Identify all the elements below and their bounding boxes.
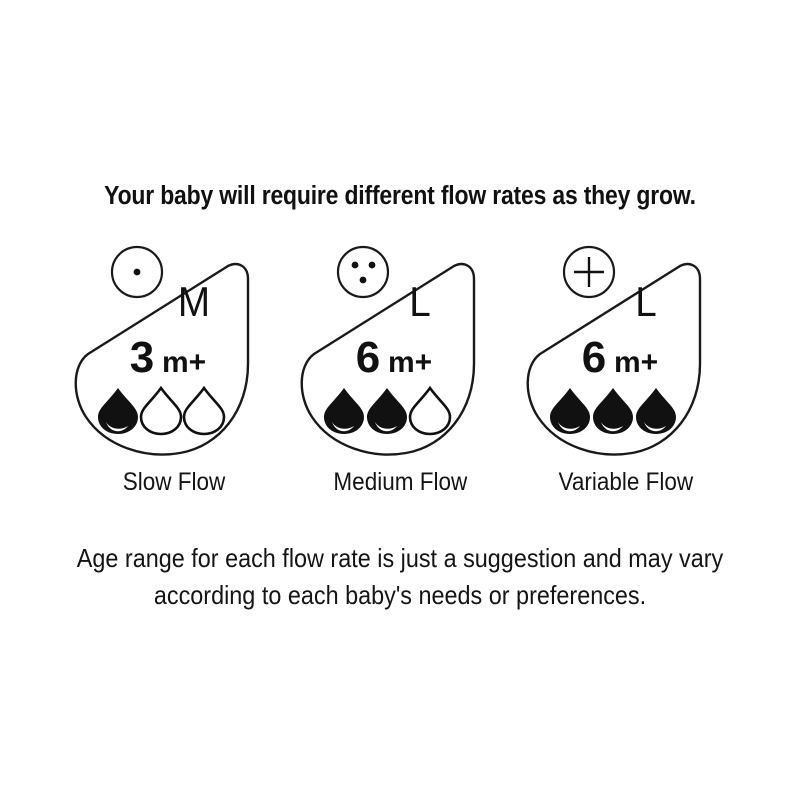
flow-drop-indicators	[98, 388, 224, 434]
page-title: Your baby will require different flow ra…	[40, 182, 760, 211]
flow-label-medium: Medium Flow	[333, 469, 467, 497]
svg-text:m+: m+	[614, 346, 658, 379]
disclaimer-line-2: according to each baby's needs or prefer…	[40, 577, 760, 614]
flow-rate-card-slow[interactable]: M 3 m+	[61, 244, 287, 497]
nipple-size-letter: L	[409, 277, 430, 325]
nipple-size-letter: L	[635, 277, 656, 325]
flow-rate-card-list: M 3 m+	[0, 244, 800, 497]
disclaimer-line-1: Age range for each flow rate is just a s…	[40, 540, 760, 577]
three-dots-icon	[338, 247, 388, 297]
flow-rate-infographic: Your baby will require different flow ra…	[0, 0, 800, 800]
nipple-diagram-slow: M 3 m+	[70, 244, 278, 459]
flow-rate-card-medium[interactable]: L 6 m+	[287, 244, 513, 497]
disclaimer-text: Age range for each flow rate is just a s…	[40, 540, 760, 614]
svg-text:3: 3	[130, 333, 154, 382]
nipple-diagram-variable: L 6 m+	[522, 244, 730, 459]
flow-rate-card-variable[interactable]: L 6 m+	[513, 244, 739, 497]
flow-drop-indicators	[550, 388, 676, 434]
flow-drop-indicators	[324, 388, 450, 434]
one-dot-icon	[112, 247, 162, 297]
nipple-size-letter: M	[178, 277, 210, 325]
svg-text:6: 6	[582, 333, 606, 382]
nipple-diagram-medium: L 6 m+	[296, 244, 504, 459]
flow-label-variable: Variable Flow	[559, 469, 694, 497]
plus-cross-icon	[564, 247, 614, 297]
svg-text:6: 6	[356, 333, 380, 382]
svg-text:m+: m+	[162, 346, 206, 379]
svg-text:m+: m+	[388, 346, 432, 379]
flow-label-slow: Slow Flow	[123, 469, 226, 497]
